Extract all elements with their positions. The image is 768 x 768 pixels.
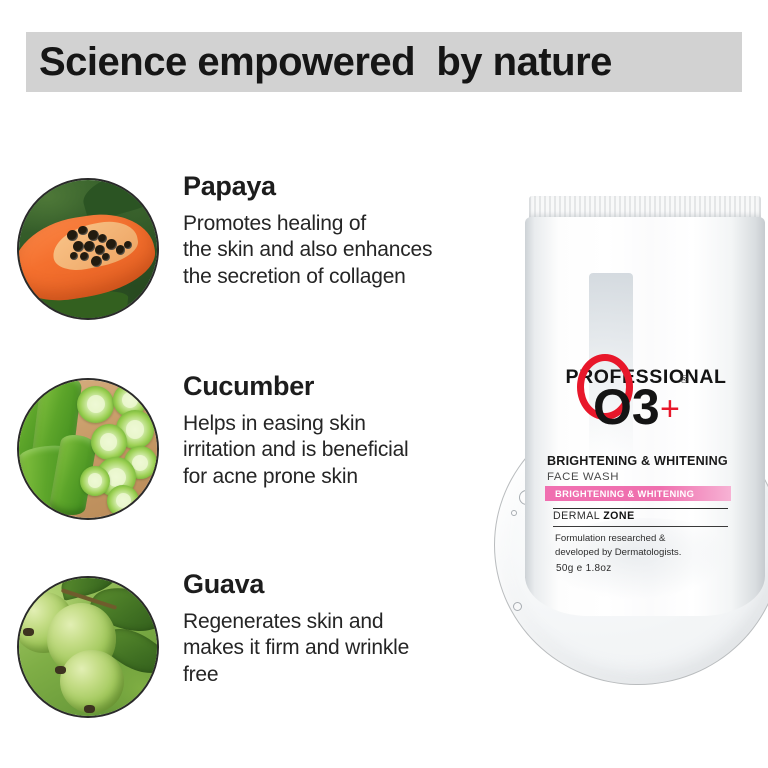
label-pink-banner-text: BRIGHTENING & WHITENING: [545, 488, 694, 499]
ingredient-name-papaya: Papaya: [183, 172, 513, 202]
ingredient-name-cucumber: Cucumber: [183, 372, 513, 402]
brand-logo: PROFESSIONAL O3 + ®: [525, 360, 765, 446]
label-pink-banner: BRIGHTENING & WHITENING: [545, 486, 731, 501]
ingredient-desc-papaya: Promotes healing of the skin and also en…: [183, 211, 513, 291]
ingredient-desc-cucumber: Helps in easing skin irritation and is b…: [183, 411, 513, 491]
dermal-zone-prefix: DERMAL: [553, 510, 603, 522]
label-formulation-text: Formulation researched & developed by De…: [555, 532, 733, 560]
cucumber-photo: [17, 378, 159, 520]
dermal-zone-strong: ZONE: [603, 510, 634, 522]
product-tube: PROFESSIONAL O3 + ® BRIGHTENING & WHITEN…: [525, 196, 765, 616]
header-banner: Science empowered by nature: [26, 32, 742, 92]
label-net-weight: 50g e 1.8oz: [556, 563, 612, 574]
label-dermal-zone: DERMAL ZONE: [553, 510, 635, 522]
ingredient-desc-guava: Regenerates skin and makes it firm and w…: [183, 609, 513, 689]
tube-label: PROFESSIONAL O3 + ® BRIGHTENING & WHITEN…: [525, 196, 765, 616]
label-rule-top: [553, 508, 728, 509]
logo-plus-mark: +: [660, 392, 680, 426]
label-rule-bottom: [553, 526, 728, 527]
guava-photo: [17, 576, 159, 718]
label-product-type: FACE WASH: [547, 471, 752, 483]
registered-trademark-icon: ®: [680, 374, 688, 386]
label-product-name: BRIGHTENING & WHITENING: [547, 454, 752, 468]
papaya-photo: [17, 178, 159, 320]
page-title: Science empowered by nature: [26, 40, 612, 85]
ingredient-name-guava: Guava: [183, 570, 513, 600]
logo-o3-mark: O3: [593, 382, 660, 432]
